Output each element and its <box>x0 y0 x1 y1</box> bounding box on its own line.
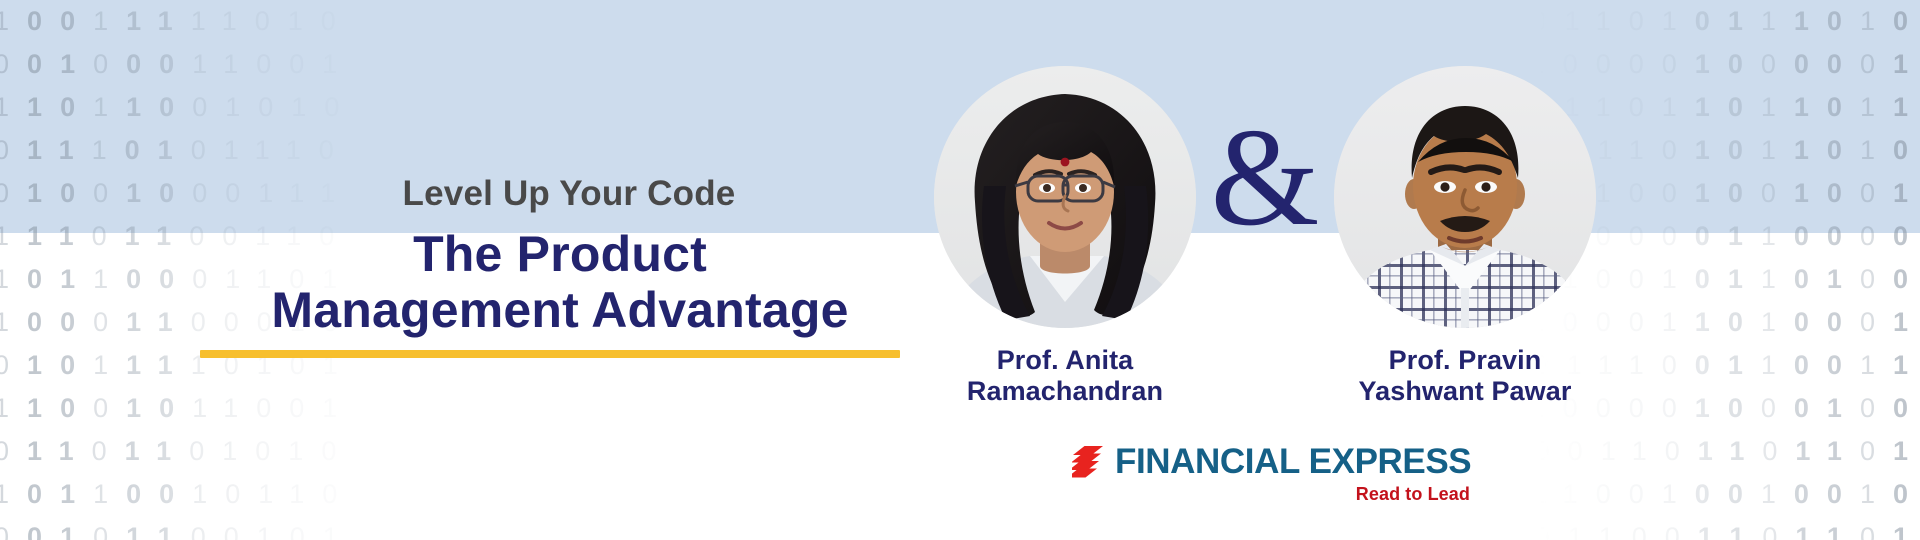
speaker-name-2: Prof. Pravin Yashwant Pawar <box>1330 345 1600 408</box>
title-underline-rule <box>200 350 900 358</box>
page-title: The Product Management Advantage <box>200 226 920 338</box>
avatar-anita-ramachandran <box>934 66 1196 328</box>
headline-kicker: Level Up Your Code <box>218 176 920 213</box>
speaker-2-name-line-2: Yashwant Pawar <box>1330 376 1600 407</box>
speaker-2-name-line-1: Prof. Pravin <box>1330 345 1600 376</box>
event-promo-banner: 1001111101000100011001110110010100111010… <box>0 0 1920 540</box>
speakers-block: Prof. Anita Ramachandran & <box>930 66 1630 436</box>
brand-tagline: Read to Lead <box>1072 484 1470 505</box>
avatar-pravin-yashwant-pawar <box>1334 66 1596 328</box>
headline-block: Level Up Your Code The Product Managemen… <box>200 176 920 358</box>
speaker-name-1: Prof. Anita Ramachandran <box>930 345 1200 408</box>
speaker-1-name-line-2: Ramachandran <box>930 376 1200 407</box>
speaker-card-1: Prof. Anita Ramachandran <box>930 66 1200 408</box>
brand-logo: FINANCIAL EXPRESS Read to Lead <box>1072 444 1492 505</box>
ampersand-separator: & <box>1200 108 1330 248</box>
brand-wordmark: FINANCIAL EXPRESS <box>1115 444 1471 479</box>
speaker-1-name-line-1: Prof. Anita <box>930 345 1200 376</box>
title-line-1: The Product <box>200 226 920 282</box>
speaker-card-2: Prof. Pravin Yashwant Pawar <box>1330 66 1600 408</box>
title-line-2: Management Advantage <box>200 282 920 338</box>
financial-express-mark-icon <box>1072 445 1104 479</box>
